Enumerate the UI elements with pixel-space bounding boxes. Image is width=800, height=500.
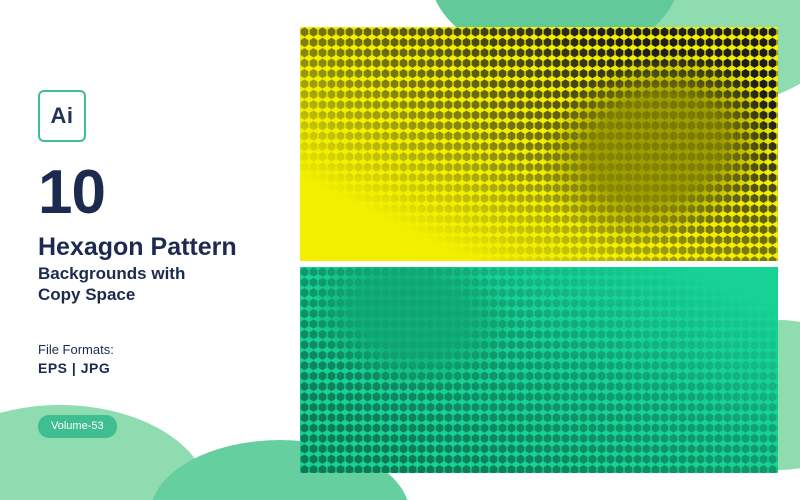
- yellow-hexagon-preview: [300, 27, 778, 261]
- item-count: 10: [38, 162, 105, 224]
- yellow-hexagon-preview-graphic: [300, 27, 778, 261]
- info-column: Ai 10 Hexagon Pattern Backgrounds with C…: [38, 0, 288, 500]
- file-formats-label: File Formats:: [38, 342, 114, 357]
- green-hexagon-preview: [300, 267, 778, 473]
- volume-badge: Volume-53: [38, 415, 117, 438]
- page-subtitle: Backgrounds with Copy Space: [38, 263, 278, 305]
- file-formats-value: EPS | JPG: [38, 360, 110, 376]
- page-title: Hexagon Pattern: [38, 233, 237, 261]
- adobe-illustrator-badge: Ai: [38, 90, 86, 142]
- adobe-illustrator-badge-label: Ai: [51, 103, 74, 129]
- green-hexagon-preview-graphic: [300, 267, 778, 473]
- poster-canvas: Ai 10 Hexagon Pattern Backgrounds with C…: [0, 0, 800, 500]
- page-subtitle-line-2: Copy Space: [38, 284, 278, 305]
- page-subtitle-line-1: Backgrounds with: [38, 263, 278, 284]
